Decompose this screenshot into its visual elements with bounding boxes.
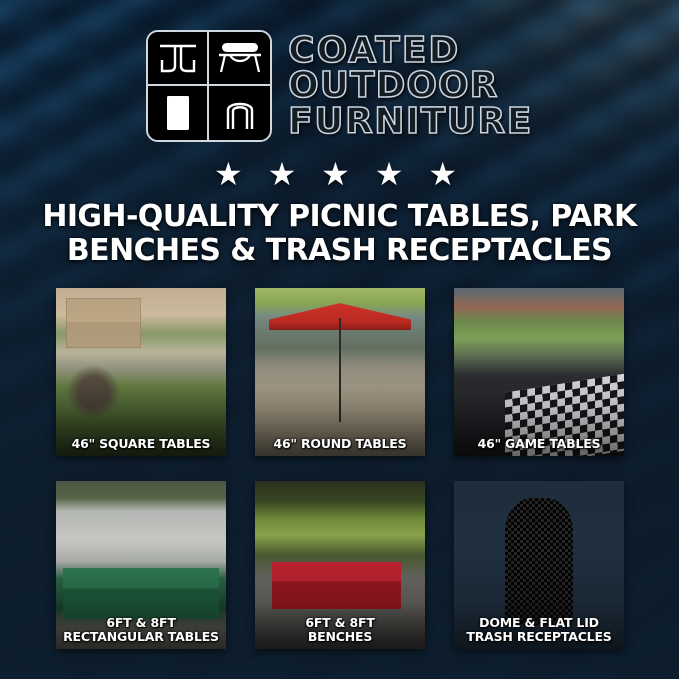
caption-line-2: TRASH RECEPTACLES bbox=[457, 630, 621, 644]
caption-line-1: 46" GAME TABLES bbox=[457, 437, 621, 451]
headline-line-2: BENCHES & TRASH RECEPTACLES bbox=[24, 234, 655, 268]
product-tile-benches[interactable]: 6FT & 8FT BENCHES bbox=[255, 481, 425, 649]
tile-caption: 6FT & 8FT RECTANGULAR TABLES bbox=[56, 616, 226, 643]
product-tile-grid: 46" SQUARE TABLES 46" ROUND TABLES 46" G… bbox=[56, 288, 624, 649]
product-tile-round-tables[interactable]: 46" ROUND TABLES bbox=[255, 288, 425, 456]
banner-content: COATED OUTDOOR FURNITURE ★ ★ ★ ★ ★ HIGH-… bbox=[0, 0, 679, 679]
logo-wordmark: COATED OUTDOOR FURNITURE bbox=[288, 33, 533, 139]
caption-line-1: 46" ROUND TABLES bbox=[258, 437, 422, 451]
headline-line-1: HIGH-QUALITY PICNIC TABLES, PARK bbox=[42, 199, 636, 234]
product-tile-game-tables[interactable]: 46" GAME TABLES bbox=[454, 288, 624, 456]
promo-banner: COATED OUTDOOR FURNITURE ★ ★ ★ ★ ★ HIGH-… bbox=[0, 0, 679, 679]
tile-caption: DOME & FLAT LID TRASH RECEPTACLES bbox=[454, 616, 624, 643]
trash-receptacle-icon bbox=[148, 86, 209, 140]
caption-line-1: 46" SQUARE TABLES bbox=[59, 437, 223, 451]
tile-caption: 46" ROUND TABLES bbox=[255, 437, 425, 451]
caption-line-1: 6FT & 8FT bbox=[59, 616, 223, 630]
game-tables-photo bbox=[454, 288, 624, 456]
logo-word-furniture: FURNITURE bbox=[288, 104, 533, 139]
caption-line-1: 6FT & 8FT bbox=[258, 616, 422, 630]
brand-logo: COATED OUTDOOR FURNITURE bbox=[0, 26, 679, 146]
caption-line-2: RECTANGULAR TABLES bbox=[59, 630, 223, 644]
product-tile-trash-receptacles[interactable]: DOME & FLAT LID TRASH RECEPTACLES bbox=[454, 481, 624, 649]
tile-caption: 46" SQUARE TABLES bbox=[56, 437, 226, 451]
round-tables-photo bbox=[255, 288, 425, 456]
caption-line-1: DOME & FLAT LID bbox=[457, 616, 621, 630]
logo-word-coated: COATED bbox=[288, 33, 460, 68]
page-title: HIGH-QUALITY PICNIC TABLES, PARK BENCHES… bbox=[24, 200, 655, 268]
picnic-table-icon bbox=[148, 32, 209, 86]
caption-line-2: BENCHES bbox=[258, 630, 422, 644]
bike-rack-icon bbox=[209, 86, 270, 140]
park-bench-icon bbox=[209, 32, 270, 86]
product-tile-rectangular-tables[interactable]: 6FT & 8FT RECTANGULAR TABLES bbox=[56, 481, 226, 649]
product-tile-square-tables[interactable]: 46" SQUARE TABLES bbox=[56, 288, 226, 456]
logo-word-outdoor: OUTDOOR bbox=[288, 68, 498, 103]
tile-caption: 46" GAME TABLES bbox=[454, 437, 624, 451]
square-tables-photo bbox=[56, 288, 226, 456]
tile-caption: 6FT & 8FT BENCHES bbox=[255, 616, 425, 643]
star-rating: ★ ★ ★ ★ ★ bbox=[0, 158, 679, 190]
logo-icon-grid bbox=[146, 30, 272, 142]
